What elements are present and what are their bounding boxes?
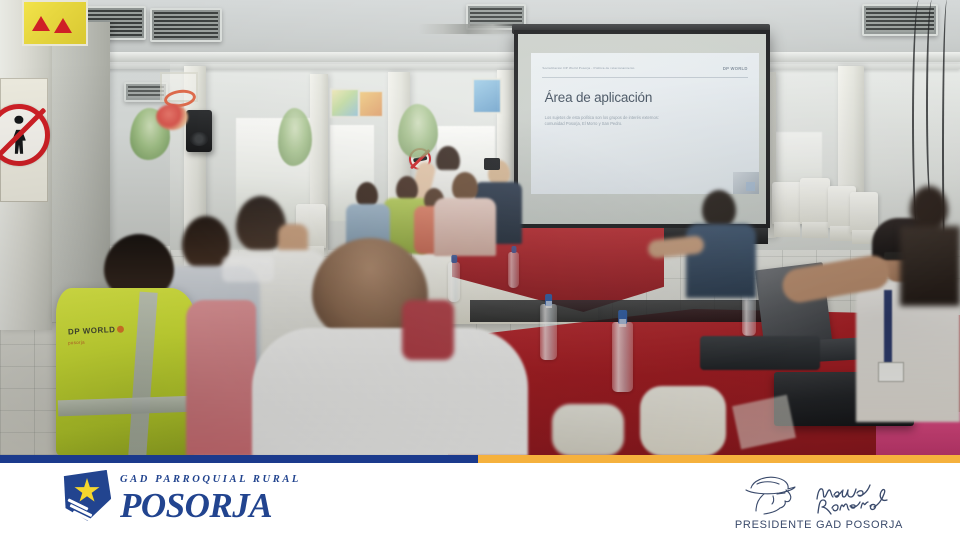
stacked-chairs-4	[850, 192, 878, 232]
posorja-brand-block: GAD PARROQUIAL RURAL POSORJA	[62, 471, 301, 527]
slide-title: Área de aplicación	[545, 90, 652, 105]
bottle-cap	[451, 255, 457, 263]
far-right-head	[910, 186, 948, 230]
footer: GAD PARROQUIAL RURAL POSORJA	[0, 463, 960, 540]
hanging-plant-center	[278, 108, 312, 166]
posorja-brand-text: GAD PARROQUIAL RURAL POSORJA	[120, 475, 301, 524]
footer-bar-orange	[478, 455, 960, 463]
stacked-chairs-2	[800, 178, 830, 224]
white-cushion	[640, 386, 726, 455]
water-bottle-head-table-2	[508, 252, 519, 288]
screenshot-root: Socializacion DP World Posorja - Politic…	[0, 0, 960, 540]
badge	[878, 362, 904, 382]
ceiling-beam-2	[0, 62, 960, 69]
president-portrait-line-art	[742, 471, 907, 515]
slide-kicker-text: Socializacion DP World Posorja - Politic…	[542, 66, 634, 70]
foreground-torso	[252, 328, 528, 455]
posorja-shield-logo	[62, 471, 111, 527]
footer-color-bar	[0, 455, 960, 463]
camera-phone	[484, 158, 500, 170]
slide-divider	[542, 77, 747, 78]
wall-art-3	[472, 78, 502, 114]
seated-right-head	[702, 190, 736, 228]
dp-world-logo: DP WORLD	[723, 66, 748, 71]
wall-art-1	[330, 88, 360, 118]
hivis-neighbor-pink-shirt	[186, 300, 256, 455]
bottle-cap	[511, 246, 516, 253]
pillar-left	[52, 22, 110, 322]
air-conditioning-vent-right	[862, 4, 938, 36]
foreground-collar-red	[402, 300, 454, 360]
event-photograph: Socializacion DP World Posorja - Politic…	[0, 0, 960, 455]
flower-decoration	[156, 104, 188, 130]
warning-triangle-icon-2	[54, 18, 72, 33]
slide-corner-chip	[746, 182, 755, 191]
safety-poster	[22, 0, 88, 46]
warning-triangle-icon	[32, 16, 50, 31]
bottle-neck	[619, 319, 627, 327]
bottle-neck	[545, 301, 551, 308]
hanging-plant-right	[398, 104, 438, 158]
no-pedestrians-sign	[0, 104, 50, 166]
laptop-secondary	[700, 336, 820, 370]
footer-bar-blue	[0, 455, 478, 463]
president-caption: PRESIDENTE GAD POSORJA	[724, 519, 914, 531]
ceiling-speaker	[186, 110, 212, 152]
water-bottle-2	[612, 322, 633, 392]
presentation-slide: Socializacion DP World Posorja - Politic…	[531, 53, 759, 194]
far-right-torso	[900, 226, 960, 306]
ceiling-fan	[418, 24, 518, 34]
brand-name: POSORJA	[120, 488, 301, 523]
seated-pink-torso	[434, 198, 496, 256]
hanging-cable-1	[926, 0, 938, 210]
brand-kicker: GAD PARROQUIAL RURAL	[120, 475, 301, 486]
woman-drinking-bottle	[222, 256, 274, 282]
slide-body-text: Los sujetos de esta política son los gru…	[545, 115, 677, 128]
air-conditioning-vent-left-2	[150, 8, 222, 42]
ceiling-beam-1	[0, 52, 960, 62]
stacked-chairs-1	[772, 182, 802, 224]
hivis-vest	[56, 288, 196, 455]
white-cushion-2	[552, 404, 624, 455]
president-block: PRESIDENTE GAD POSORJA	[724, 471, 914, 531]
dp-world-vest-sublabel: posorja	[68, 340, 85, 346]
lanyard	[884, 290, 892, 368]
water-bottle-1	[540, 304, 557, 360]
pedestrian-head	[15, 116, 23, 124]
wall-art-2	[358, 90, 384, 118]
water-bottle-head-table	[448, 262, 460, 302]
